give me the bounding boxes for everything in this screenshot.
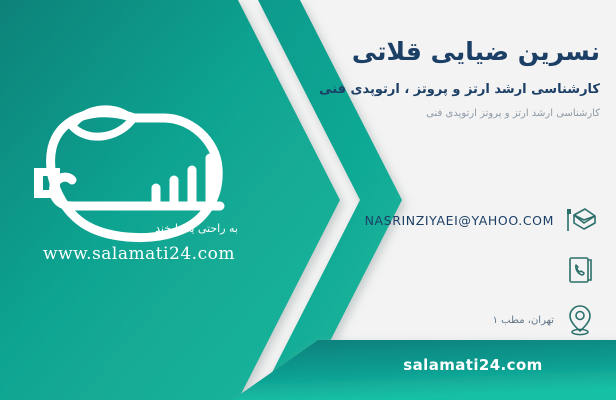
footer-website[interactable]: salamati24.com — [330, 352, 616, 378]
phone-book-icon — [560, 250, 600, 290]
job-subtitle: کارشناسی ارشد ارتز و پروتز ارتوپدی فنی — [280, 107, 600, 121]
address-text: تهران، مطب ۱ — [493, 315, 560, 326]
envelope-icon — [560, 200, 600, 240]
business-card: به راحتی یک لبخند www.salamati24.com نسر… — [0, 0, 616, 400]
location-pin-icon — [560, 300, 600, 340]
email-text: NASRINZIYAEI@YAHOO.COM — [365, 213, 560, 228]
job-title: کارشناسی ارشد ارتز و پروتز ، ارتوپدی فنی — [280, 81, 600, 99]
contact-row-email[interactable]: NASRINZIYAEI@YAHOO.COM — [270, 200, 600, 240]
contact-list: NASRINZIYAEI@YAHOO.COM تهران، مطب ۱ — [270, 200, 600, 350]
brand-logo: به راحتی یک لبخند www.salamati24.com — [14, 96, 264, 286]
contact-row-address[interactable]: تهران، مطب ۱ — [270, 300, 600, 340]
person-info: نسرین ضیایی قلاتی کارشناسی ارشد ارتز و پ… — [280, 0, 600, 121]
contact-row-phone[interactable] — [270, 250, 600, 290]
brand-tagline: به راحتی یک لبخند — [155, 222, 238, 235]
person-name: نسرین ضیایی قلاتی — [280, 36, 600, 69]
brand-website: www.salamati24.com — [14, 244, 264, 264]
